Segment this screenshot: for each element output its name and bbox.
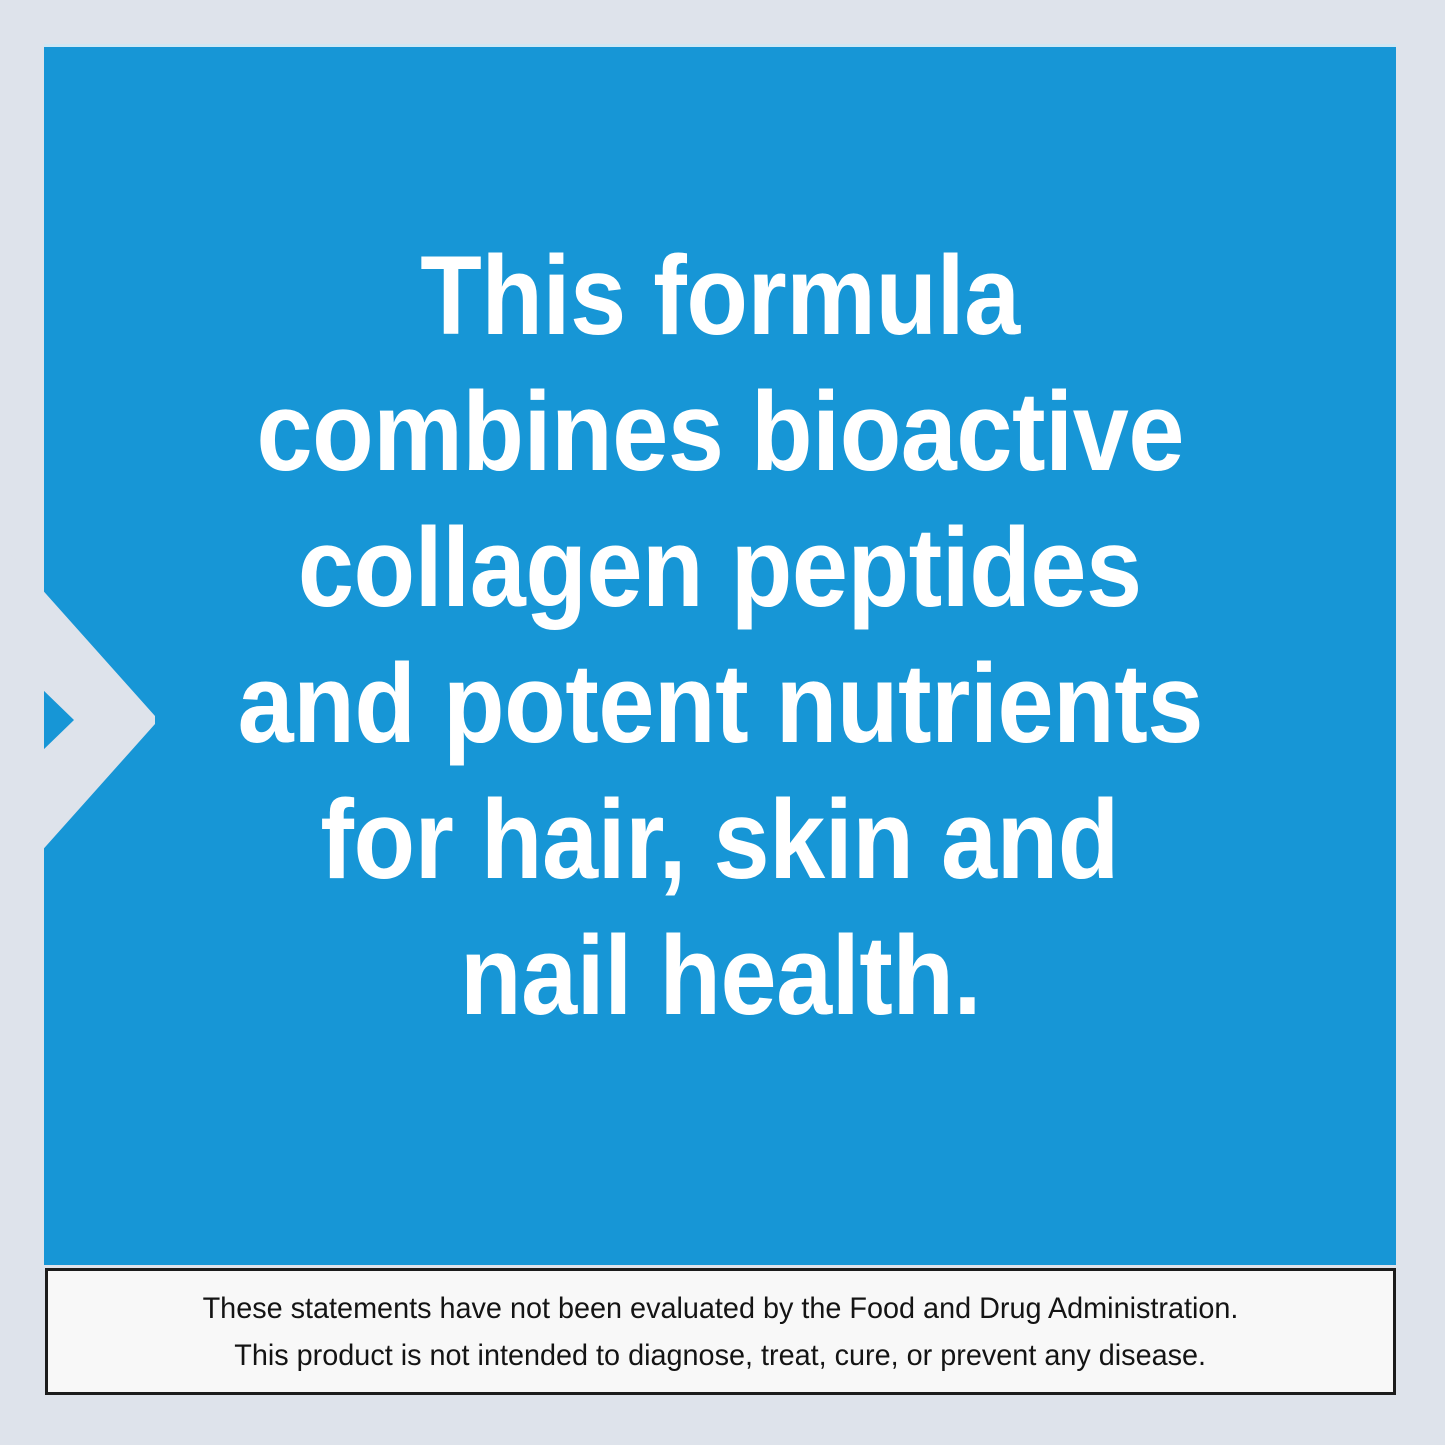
headline-line-4: and potent nutrients	[237, 636, 1202, 772]
product-claim-banner: This formula combines bioactive collagen…	[0, 0, 1445, 1445]
headline-block: This formula combines bioactive collagen…	[44, 47, 1396, 1265]
headline-line-6: nail health.	[459, 908, 980, 1044]
headline-line-2: combines bioactive	[256, 364, 1183, 500]
disclaimer-line-2: This product is not intended to diagnose…	[235, 1332, 1207, 1379]
disclaimer-line-1: These statements have not been evaluated…	[203, 1285, 1239, 1332]
headline-line-5: for hair, skin and	[321, 772, 1119, 908]
headline-line-3: collagen peptides	[298, 500, 1142, 636]
headline-line-1: This formula	[420, 228, 1019, 364]
fda-disclaimer-box: These statements have not been evaluated…	[45, 1268, 1396, 1395]
